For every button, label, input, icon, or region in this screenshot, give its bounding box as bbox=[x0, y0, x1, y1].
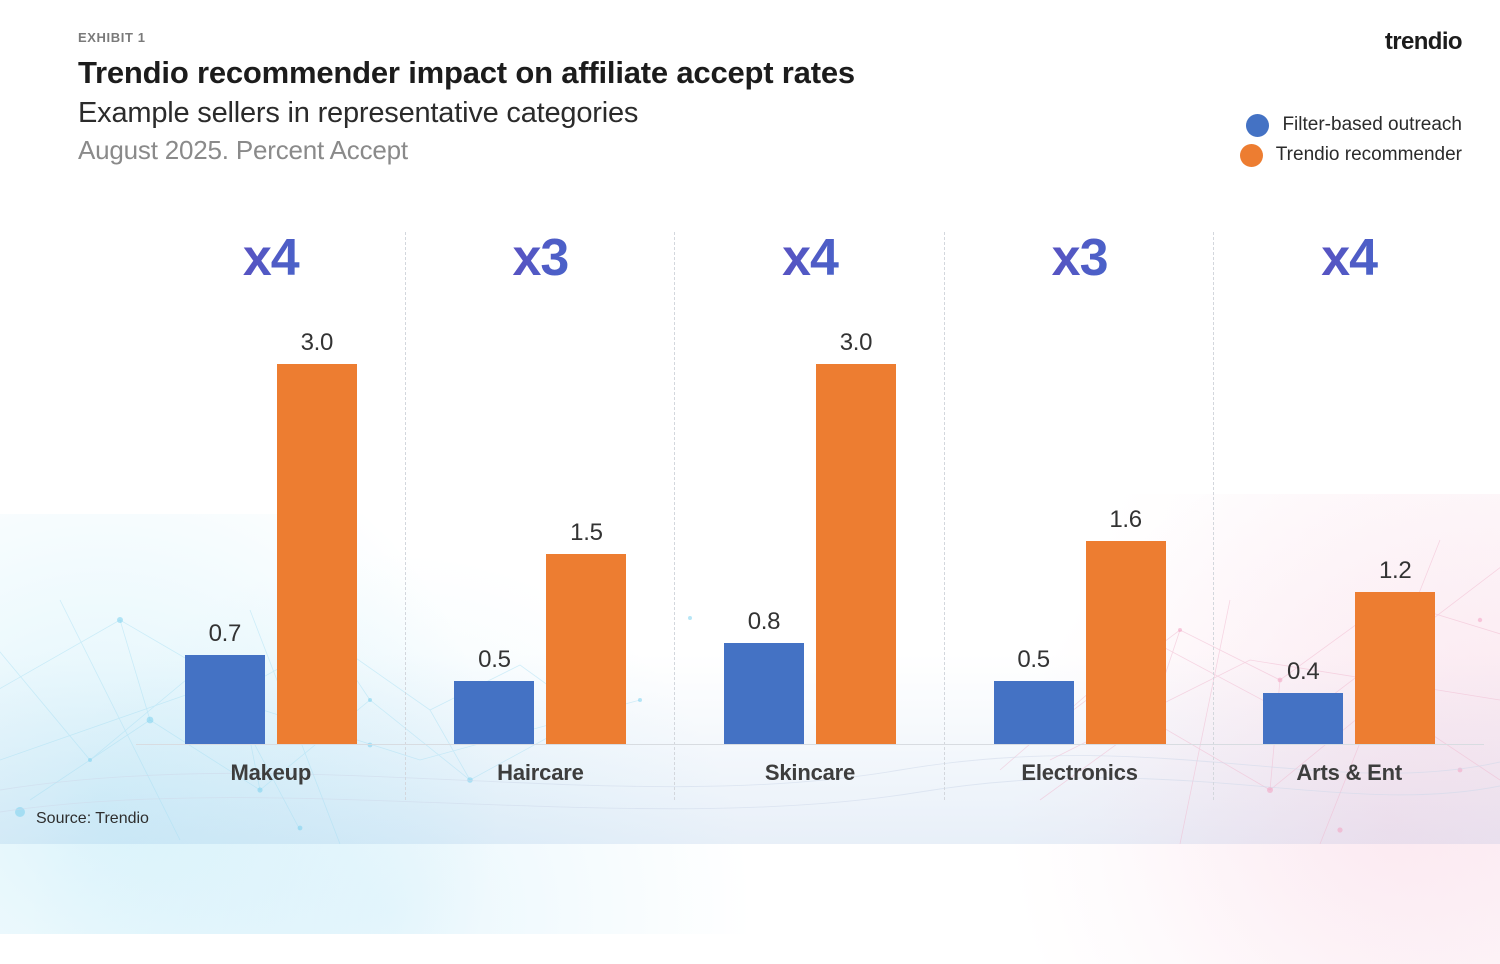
legend-label: Filter-based outreach bbox=[1282, 114, 1462, 136]
legend-swatch-icon bbox=[1240, 144, 1263, 167]
bar[interactable] bbox=[546, 554, 626, 744]
category-label: Electronics bbox=[945, 760, 1215, 786]
page-subtitle: Example sellers in representative catego… bbox=[78, 97, 855, 130]
legend-item-trendio-recommender[interactable]: Trendio recommender bbox=[1240, 140, 1462, 170]
bar-group: x40.83.0 bbox=[675, 232, 945, 744]
bar-value-label: 1.5 bbox=[570, 519, 602, 547]
bar-pair: 0.51.6 bbox=[945, 364, 1215, 744]
bar-column: 0.4 bbox=[1263, 693, 1343, 744]
legend-label: Trendio recommender bbox=[1276, 144, 1462, 166]
chart-legend: Filter-based outreach Trendio recommende… bbox=[1240, 110, 1462, 170]
bar[interactable] bbox=[724, 643, 804, 744]
legend-swatch-icon bbox=[1246, 114, 1269, 137]
multiplier-label: x4 bbox=[136, 232, 406, 284]
bar-value-label: 3.0 bbox=[301, 329, 333, 357]
chart-header: EXHIBIT 1 Trendio recommender impact on … bbox=[78, 30, 855, 166]
bar-pair: 0.41.2 bbox=[1214, 364, 1484, 744]
source-note: Source: Trendio bbox=[36, 810, 149, 828]
bar-column: 3.0 bbox=[277, 364, 357, 744]
bar[interactable] bbox=[1263, 693, 1343, 744]
legend-item-filter-based-outreach[interactable]: Filter-based outreach bbox=[1240, 110, 1462, 140]
bar[interactable] bbox=[277, 364, 357, 744]
x-axis-category-labels: MakeupHaircareSkincareElectronicsArts & … bbox=[136, 760, 1484, 786]
bar-value-label: 1.2 bbox=[1379, 557, 1411, 585]
bar-pair: 0.51.5 bbox=[406, 364, 676, 744]
bar-column: 1.2 bbox=[1355, 592, 1435, 744]
bar[interactable] bbox=[454, 681, 534, 744]
exhibit-label: EXHIBIT 1 bbox=[78, 30, 855, 45]
multiplier-label: x4 bbox=[1214, 232, 1484, 284]
bar-value-label: 0.5 bbox=[478, 646, 510, 674]
page-subsubtitle: August 2025. Percent Accept bbox=[78, 135, 855, 166]
bar-value-label: 3.0 bbox=[840, 329, 872, 357]
trendio-logo: trendio bbox=[1385, 28, 1462, 56]
bar-column: 0.5 bbox=[454, 681, 534, 744]
bar-chart-plot-area: x40.73.0x30.51.5x40.83.0x30.51.6x40.41.2 bbox=[136, 232, 1484, 744]
category-label: Makeup bbox=[136, 760, 406, 786]
bar-column: 0.5 bbox=[994, 681, 1074, 744]
bar-value-label: 0.8 bbox=[748, 608, 780, 636]
x-axis-baseline bbox=[136, 744, 1484, 745]
bar-value-label: 0.7 bbox=[209, 620, 241, 648]
bar-pair: 0.83.0 bbox=[675, 364, 945, 744]
bar-pair: 0.73.0 bbox=[136, 364, 406, 744]
bar-group: x40.41.2 bbox=[1214, 232, 1484, 744]
bar-group: x40.73.0 bbox=[136, 232, 406, 744]
bar-column: 1.6 bbox=[1086, 541, 1166, 744]
bar[interactable] bbox=[816, 364, 896, 744]
bar[interactable] bbox=[185, 655, 265, 744]
bar-column: 0.8 bbox=[724, 643, 804, 744]
bar[interactable] bbox=[1355, 592, 1435, 744]
page-title: Trendio recommender impact on affiliate … bbox=[78, 55, 855, 91]
multiplier-label: x3 bbox=[945, 232, 1215, 284]
bar-column: 0.7 bbox=[185, 655, 265, 744]
bar-value-label: 0.4 bbox=[1287, 658, 1319, 686]
bar-value-label: 0.5 bbox=[1017, 646, 1049, 674]
bar[interactable] bbox=[994, 681, 1074, 744]
bar[interactable] bbox=[1086, 541, 1166, 744]
bar-column: 1.5 bbox=[546, 554, 626, 744]
bar-groups: x40.73.0x30.51.5x40.83.0x30.51.6x40.41.2 bbox=[136, 232, 1484, 744]
bar-column: 3.0 bbox=[816, 364, 896, 744]
category-label: Skincare bbox=[675, 760, 945, 786]
category-label: Arts & Ent bbox=[1214, 760, 1484, 786]
multiplier-label: x4 bbox=[675, 232, 945, 284]
category-label: Haircare bbox=[406, 760, 676, 786]
multiplier-label: x3 bbox=[406, 232, 676, 284]
bar-group: x30.51.5 bbox=[406, 232, 676, 744]
bar-value-label: 1.6 bbox=[1109, 506, 1141, 534]
bar-group: x30.51.6 bbox=[945, 232, 1215, 744]
